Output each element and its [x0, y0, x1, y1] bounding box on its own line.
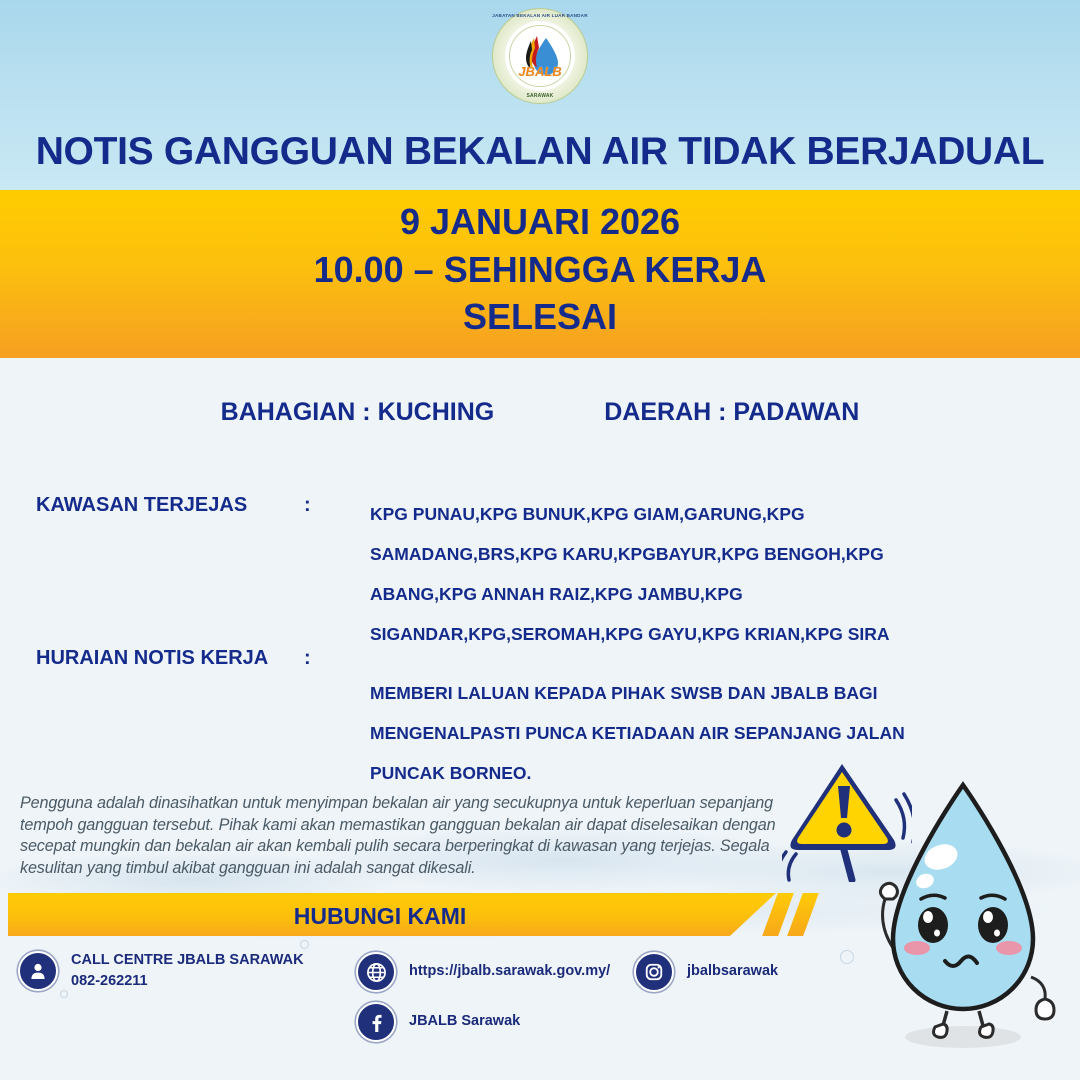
page-title: NOTIS GANGGUAN BEKALAN AIR TIDAK BERJADU… [0, 130, 1080, 174]
person-icon [18, 951, 58, 991]
water-droplet-mascot [855, 765, 1070, 1065]
district-label: DAERAH : PADAWAN [604, 398, 859, 427]
affected-area-line: SIGANDAR,KPG,SEROMAH,KPG GAYU,KPG KRIAN,… [370, 614, 890, 654]
facebook-icon [356, 1002, 396, 1042]
affected-areas-label: KAWASAN TERJEJAS [36, 494, 247, 517]
contact-website-text: https://jbalb.sarawak.gov.my/ [409, 961, 610, 982]
division-label: BAHAGIAN : KUCHING [221, 398, 495, 427]
work-description-colon: : [304, 647, 311, 670]
contact-facebook-text: JBALB Sarawak [409, 1011, 520, 1032]
affected-area-line: SAMADANG,BRS,KPG KARU,KPGBAYUR,KPG BENGO… [370, 534, 890, 574]
date-line-3: SELESAI [0, 293, 1080, 341]
date-band: 9 JANUARI 2026 10.00 – SEHINGGA KERJA SE… [0, 190, 1080, 358]
instagram-icon [634, 952, 674, 992]
globe-icon [356, 952, 396, 992]
contact-banner-label: HUBUNGI KAMI [0, 903, 760, 930]
contact-call-centre-text: CALL CENTRE JBALB SARAWAK 082-262211 [71, 950, 304, 992]
affected-areas-colon: : [304, 494, 311, 517]
region-row: BAHAGIAN : KUCHING DAERAH : PADAWAN [0, 398, 1080, 427]
contact-instagram[interactable]: jbalbsarawak [634, 952, 778, 992]
contact-line-2: 082-262211 [71, 971, 304, 992]
contact-line-1: CALL CENTRE JBALB SARAWAK [71, 950, 304, 971]
bubble [840, 950, 854, 964]
bubble [300, 940, 309, 949]
contact-call-centre[interactable]: CALL CENTRE JBALB SARAWAK 082-262211 [18, 950, 304, 992]
affected-area-line: KPG PUNAU,KPG BUNUK,KPG GIAM,GARUNG,KPG [370, 494, 890, 534]
logo-ring-text-bottom: SARAWAK [492, 93, 588, 99]
contact-facebook[interactable]: JBALB Sarawak [356, 1002, 520, 1042]
affected-areas-values: KPG PUNAU,KPG BUNUK,KPG GIAM,GARUNG,KPG … [370, 494, 890, 654]
logo-ring-text-top: JABATAN BEKALAN AIR LUAR BANDAR [492, 13, 588, 18]
work-description-label: HURAIAN NOTIS KERJA [36, 647, 268, 670]
work-description-line: MEMBERI LALUAN KEPADA PIHAK SWSB DAN JBA… [370, 673, 905, 713]
jbalb-logo: JABATAN BEKALAN AIR LUAR BANDAR JBALB SA… [492, 8, 588, 104]
advisory-text: Pengguna adalah dinasihatkan untuk menyi… [20, 793, 780, 879]
date-line-1: 9 JANUARI 2026 [0, 198, 1080, 246]
contact-website[interactable]: https://jbalb.sarawak.gov.my/ [356, 952, 610, 992]
logo-wordmark: JBALB [492, 64, 588, 79]
affected-area-line: ABANG,KPG ANNAH RAIZ,KPG JAMBU,KPG [370, 574, 890, 614]
contact-instagram-text: jbalbsarawak [687, 961, 778, 982]
date-line-2: 10.00 – SEHINGGA KERJA [0, 246, 1080, 294]
